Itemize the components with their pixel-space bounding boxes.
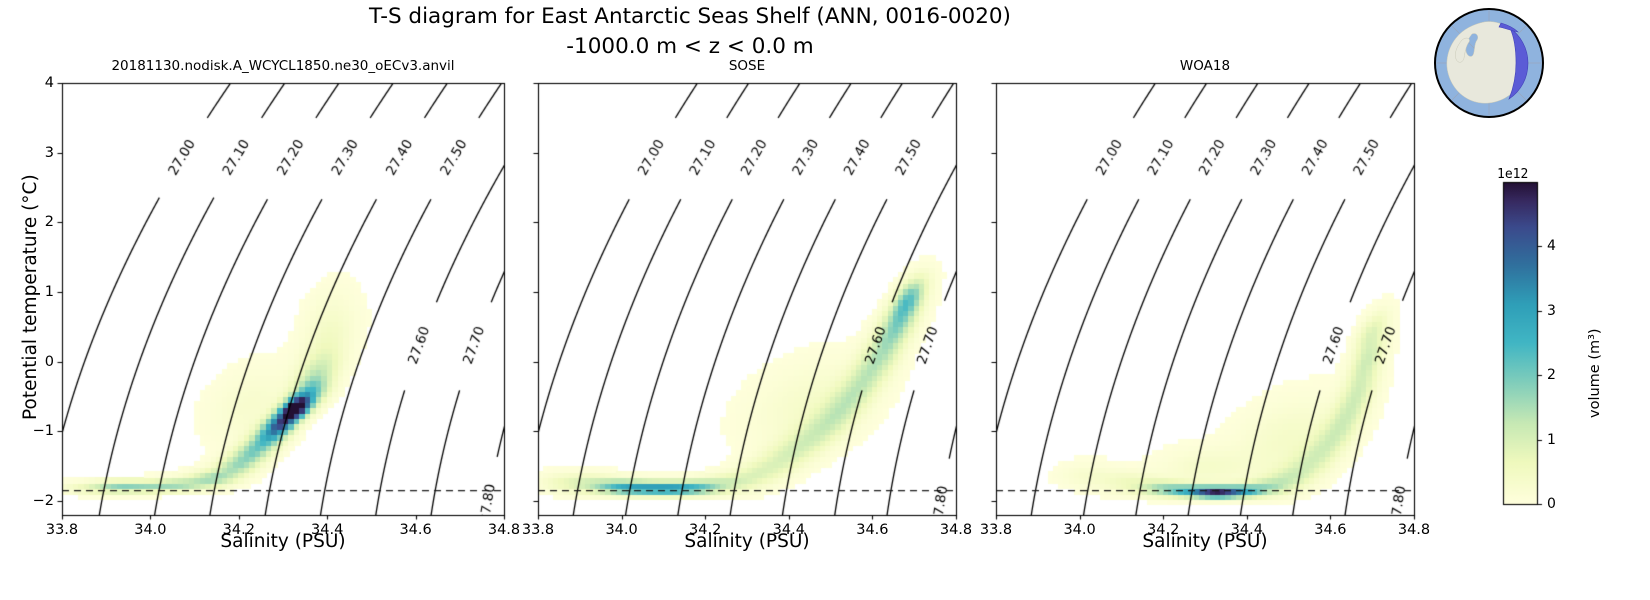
colorbar-tick-label: 0 xyxy=(1547,497,1575,511)
figure-title-line1: T-S diagram for East Antarctic Seas Shel… xyxy=(0,6,1380,28)
antarctic-locator-map xyxy=(1432,6,1546,120)
figure-title-line2: -1000.0 m < z < 0.0 m xyxy=(0,36,1380,58)
panel-title-woa18: WOA18 xyxy=(996,60,1414,74)
ts-diagram-figure: T-S diagram for East Antarctic Seas Shel… xyxy=(0,0,1650,600)
y-tick-label: 2 xyxy=(14,215,54,230)
y-tick-label: 3 xyxy=(14,146,54,161)
x-axis-label: Salinity (PSU) xyxy=(996,533,1414,552)
panel-title-sose: SOSE xyxy=(538,60,956,74)
panel-title-model: 20181130.nodisk.A_WCYCL1850.ne30_oECv3.a… xyxy=(62,60,504,74)
y-tick-label: 1 xyxy=(14,285,54,300)
y-tick-label: 0 xyxy=(14,355,54,370)
colorbar-offset-text: 1e12 xyxy=(1497,168,1528,181)
colorbar-tick-label: 1 xyxy=(1547,433,1575,447)
y-tick-label: −1 xyxy=(14,424,54,439)
colorbar-tick-label: 4 xyxy=(1547,239,1575,253)
x-axis-label: Salinity (PSU) xyxy=(62,533,504,552)
x-axis-label: Salinity (PSU) xyxy=(538,533,956,552)
ts-diagram-canvas xyxy=(0,0,1650,600)
colorbar-tick-label: 3 xyxy=(1547,304,1575,318)
y-tick-label: −2 xyxy=(14,494,54,509)
y-tick-label: 4 xyxy=(14,76,54,91)
colorbar-label: volume (m³) xyxy=(1588,328,1603,418)
colorbar-tick-label: 2 xyxy=(1547,368,1575,382)
